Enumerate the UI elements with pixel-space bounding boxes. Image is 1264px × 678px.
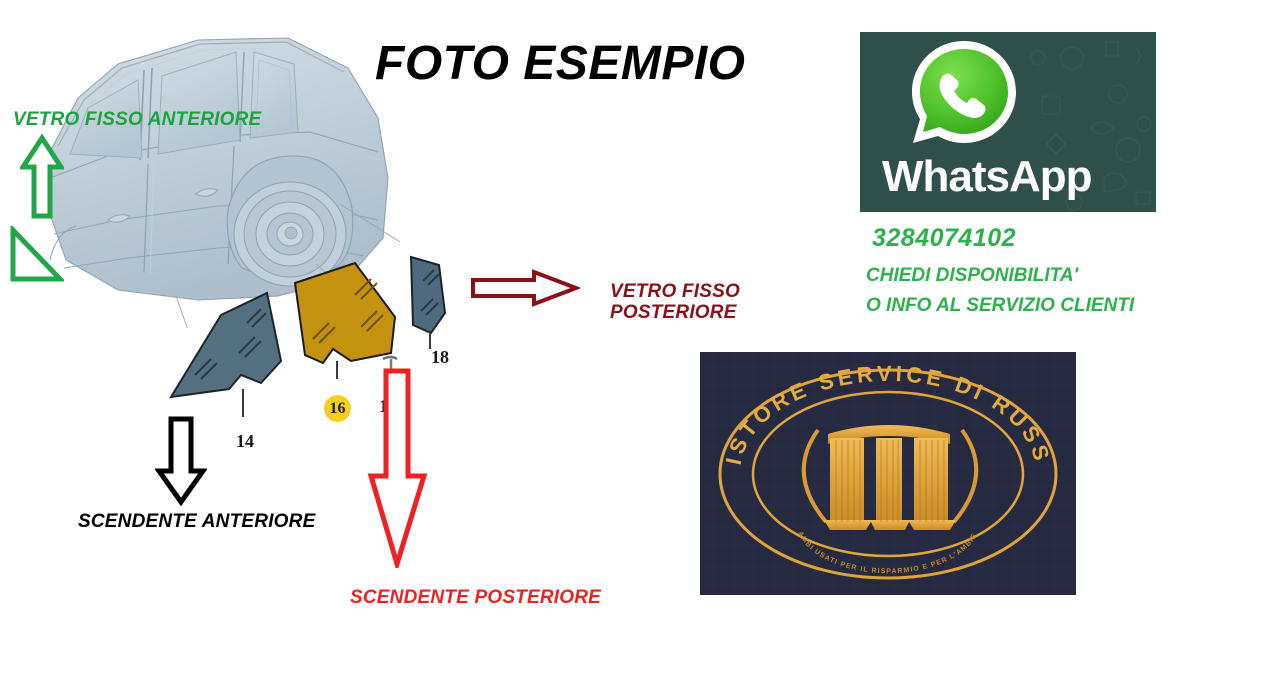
whatsapp-icon [908,38,1020,150]
label-vetro-fisso-posteriore-line2: POSTERIORE [610,302,740,323]
contact-line-availability: CHIEDI DISPONIBILITA' [866,265,1078,287]
part-16-rear-drop-glass [295,263,395,379]
callout-14: 14 [236,431,254,452]
shop-logo: MRICAMBISTORE SERVICE DI RUSSO MARCO RIC… [700,352,1076,595]
screenshot-canvas: 14 16 17 18 FOTO ESEMPIO VETRO FISSO ANT… [0,0,1264,678]
down-arrow-black-icon [155,416,207,506]
part-18-quarter-glass [411,257,445,349]
contact-phone-number[interactable]: 3284074102 [872,224,1016,253]
label-vetro-fisso-posteriore: VETRO FISSO POSTERIORE [610,281,740,324]
label-scendente-posteriore: SCENDENTE POSTERIORE [350,587,601,608]
down-arrow-red-icon [366,368,430,568]
shop-logo-graphic: MRICAMBISTORE SERVICE DI RUSSO MARCO RIC… [700,352,1076,595]
label-vetro-fisso-anteriore: VETRO FISSO ANTERIORE [13,109,261,130]
label-scendente-anteriore: SCENDENTE ANTERIORE [78,511,315,532]
part-14-front-drop-glass [171,293,281,417]
callout-16-badge: 16 [324,395,351,422]
label-vetro-fisso-posteriore-line1: VETRO FISSO [610,281,740,302]
page-title: FOTO ESEMPIO [375,36,746,91]
whatsapp-banner[interactable]: WhatsApp [860,32,1156,212]
green-triangle-icon [8,226,64,284]
up-arrow-green-icon [20,134,64,220]
whatsapp-wordmark: WhatsApp [882,152,1092,202]
callout-16: 16 [330,400,346,418]
contact-line-customer-service: O INFO AL SERVIZIO CLIENTI [866,295,1134,317]
right-arrow-darkred-icon [470,268,580,308]
callout-18: 18 [431,347,449,368]
